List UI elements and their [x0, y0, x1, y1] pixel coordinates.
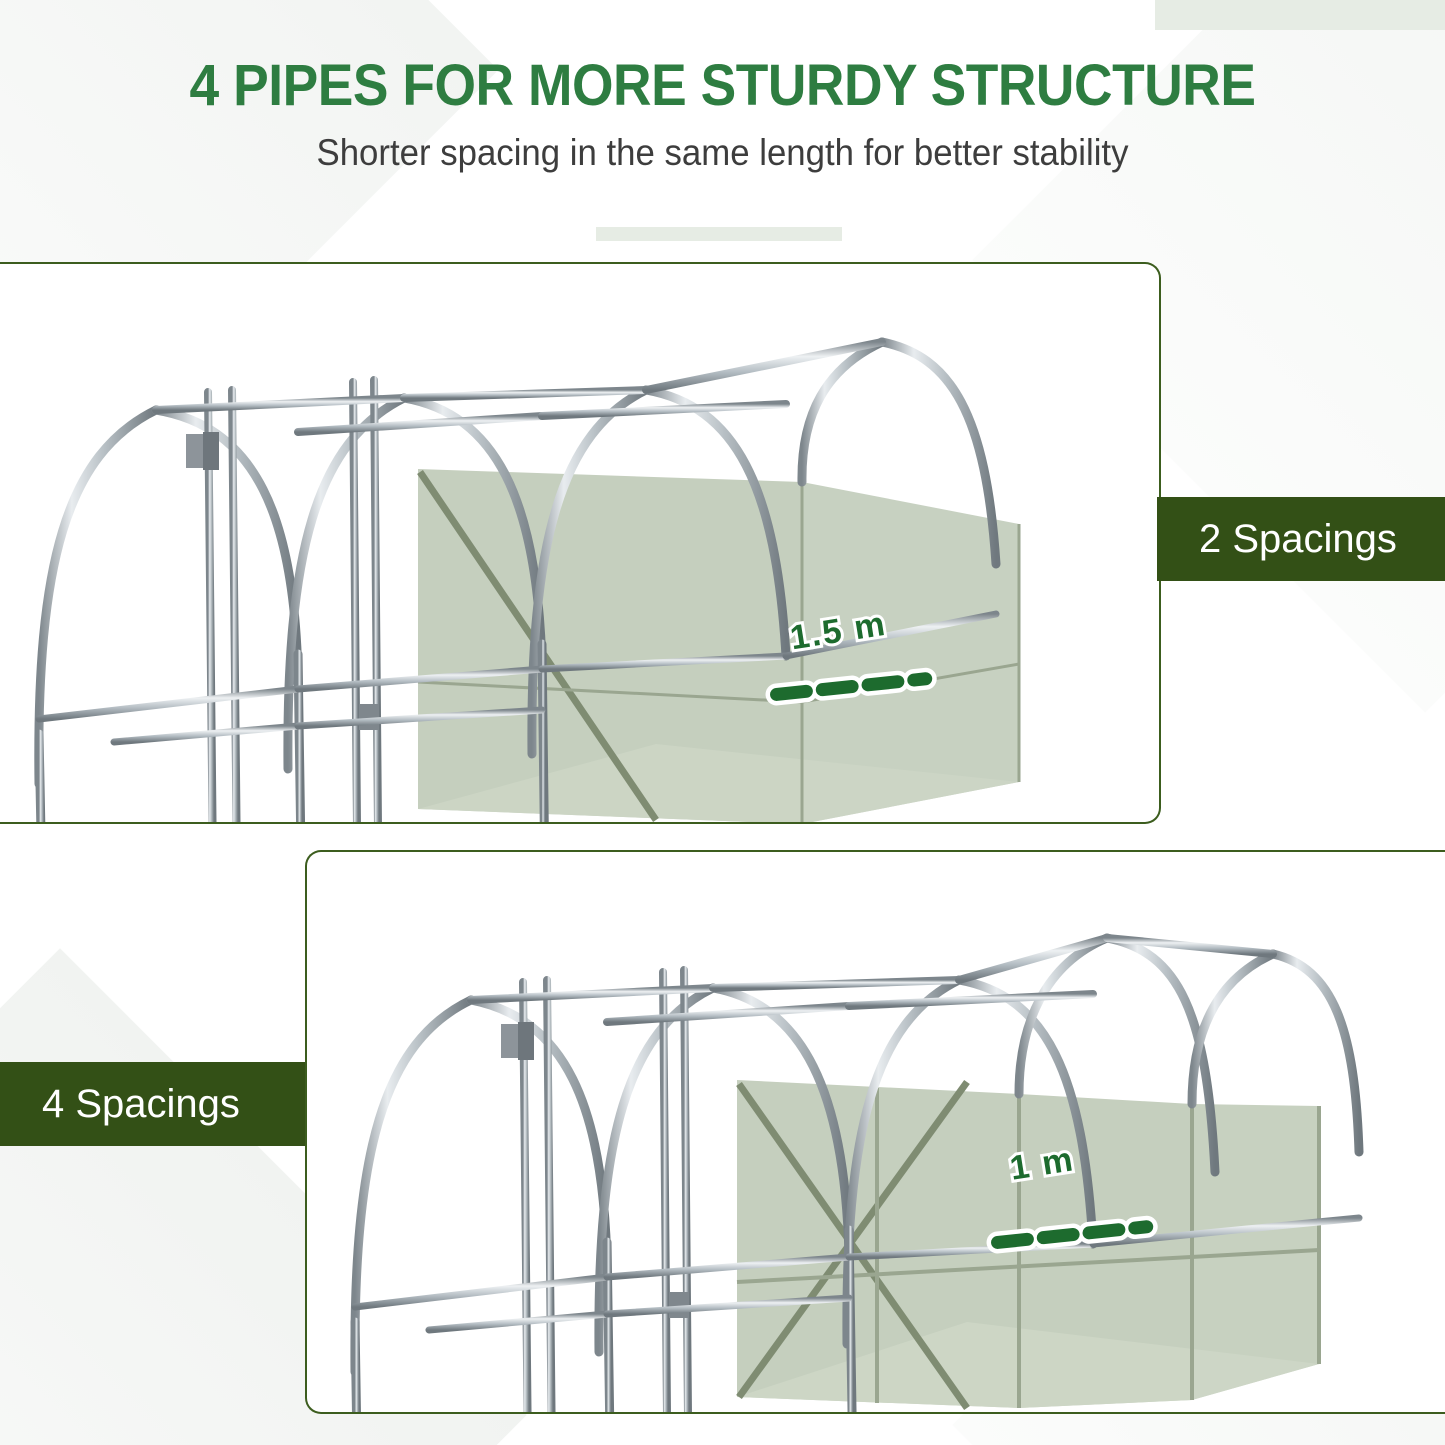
infographic-root: 4 PIPES FOR MORE STURDY STRUCTURE Shorte… [0, 0, 1445, 1445]
badge-two-spacings: 2 Spacings [1157, 497, 1445, 581]
bg-corner-accent [1155, 0, 1445, 30]
page-subtitle: Shorter spacing in the same length for b… [43, 132, 1401, 174]
badge-two-spacings-label: 2 Spacings [1199, 517, 1397, 562]
panel-four-spacings [305, 850, 1445, 1414]
badge-four-spacings: 4 Spacings [0, 1062, 305, 1146]
badge-four-spacings-label: 4 Spacings [42, 1082, 240, 1127]
panel-two-spacings [0, 262, 1161, 824]
dimension-dashed-line [0, 264, 1159, 822]
accent-divider [596, 227, 842, 241]
page-title: 4 PIPES FOR MORE STURDY STRUCTURE [58, 52, 1387, 119]
dimension-dashed-line [307, 852, 1445, 1412]
